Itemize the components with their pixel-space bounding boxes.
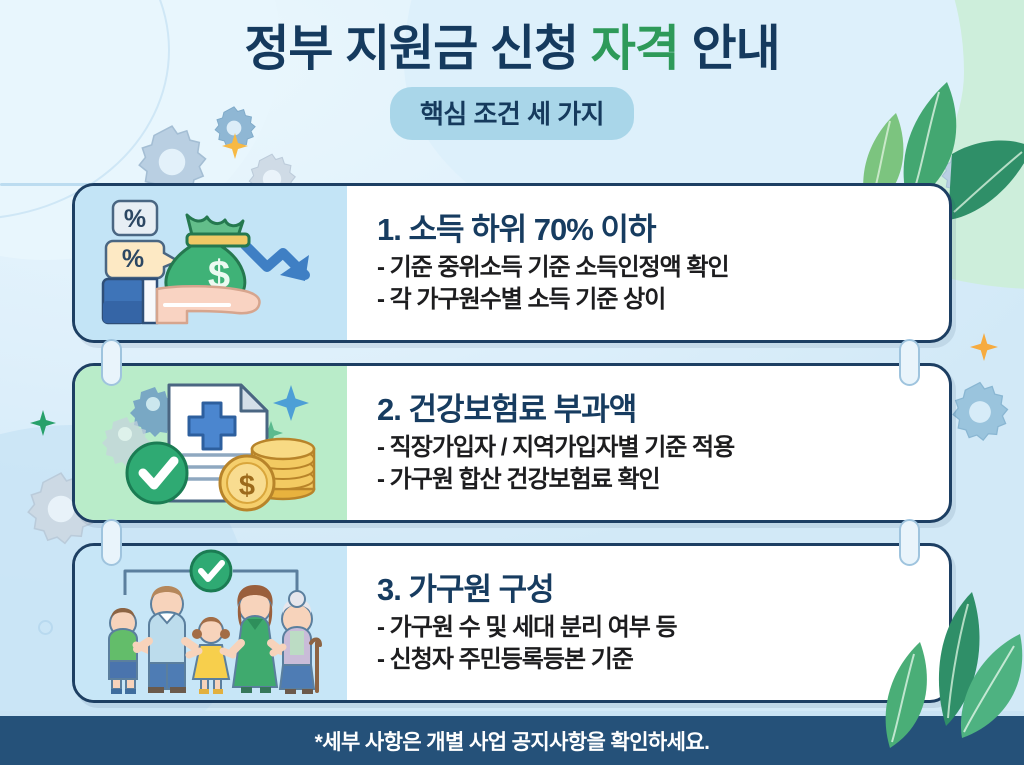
condition-card-2[interactable]: $ 2. 건강보험료 부과액 - 직장가입자 / 지역가입자별 기준 적용 - … (72, 363, 952, 523)
title-accent-word: 자격 (591, 22, 679, 76)
card-connector-left-2 (101, 519, 122, 566)
card-2-body: 2. 건강보험료 부과액 - 직장가입자 / 지역가입자별 기준 적용 - 가구… (347, 366, 949, 520)
sparkle-icon (970, 333, 998, 361)
condition-card-3[interactable]: 3. 가구원 구성 - 가구원 수 및 세대 분리 여부 등 - 신청자 주민등… (72, 543, 952, 703)
card-2-line-1: - 직장가입자 / 지역가입자별 기준 적용 (377, 432, 935, 464)
card-2-icon-panel: $ (75, 366, 347, 520)
card-1-line-1: - 기준 중위소득 기준 소득인정액 확인 (377, 252, 935, 284)
leaf-icon (958, 630, 1024, 740)
card-3-body: 3. 가구원 구성 - 가구원 수 및 세대 분리 여부 등 - 신청자 주민등… (347, 546, 949, 700)
card-connector-right-2 (899, 519, 920, 566)
title-part-1: 정부 지원금 신청 (244, 22, 590, 76)
footer-note: *세부 사항은 개별 사업 공지사항을 확인하세요. (315, 726, 710, 756)
svg-text:%: % (122, 245, 144, 273)
leaf-icon (948, 128, 1024, 238)
card-1-title: 1. 소득 하위 70% 이하 (377, 212, 935, 249)
card-1-body: 1. 소득 하위 70% 이하 - 기준 중위소득 기준 소득인정액 확인 - … (347, 186, 949, 340)
footer-bar: *세부 사항은 개별 사업 공지사항을 확인하세요. (0, 716, 1024, 765)
medical-document-coins-icon: $ (95, 371, 327, 516)
card-3-line-1: - 가구원 수 및 세대 분리 여부 등 (377, 612, 935, 644)
title-part-2: 안내 (679, 22, 780, 76)
card-1-line-2: - 각 가구원수별 소득 기준 상이 (377, 284, 935, 316)
card-connector-left-1 (101, 339, 122, 386)
svg-text:$: $ (239, 470, 255, 502)
card-3-line-2: - 신청자 주민등록등본 기준 (377, 644, 935, 676)
gear-icon (948, 380, 1012, 444)
family-members-icon (95, 549, 327, 697)
subtitle-badge: 핵심 조건 세 가지 (390, 87, 634, 140)
decorative-circle (38, 620, 53, 635)
svg-text:%: % (124, 205, 146, 233)
page-title: 정부 지원금 신청 자격 안내 (0, 24, 1024, 76)
card-3-title: 3. 가구원 구성 (377, 572, 935, 609)
card-2-line-2: - 가구원 합산 건강보험료 확인 (377, 464, 935, 496)
card-1-icon-panel: % % $ (75, 186, 347, 340)
condition-card-1[interactable]: % % $ 1. 소득 하위 70 (72, 183, 952, 343)
card-2-title: 2. 건강보험료 부과액 (377, 392, 935, 429)
card-connector-right-1 (899, 339, 920, 386)
hand-holding-money-bag-icon: % % $ (95, 193, 327, 333)
header: 정부 지원금 신청 자격 안내 핵심 조건 세 가지 (0, 24, 1024, 140)
sparkle-icon (30, 410, 56, 436)
card-3-icon-panel (75, 546, 347, 700)
infographic-canvas: 정부 지원금 신청 자격 안내 핵심 조건 세 가지 % % $ (0, 0, 1024, 765)
